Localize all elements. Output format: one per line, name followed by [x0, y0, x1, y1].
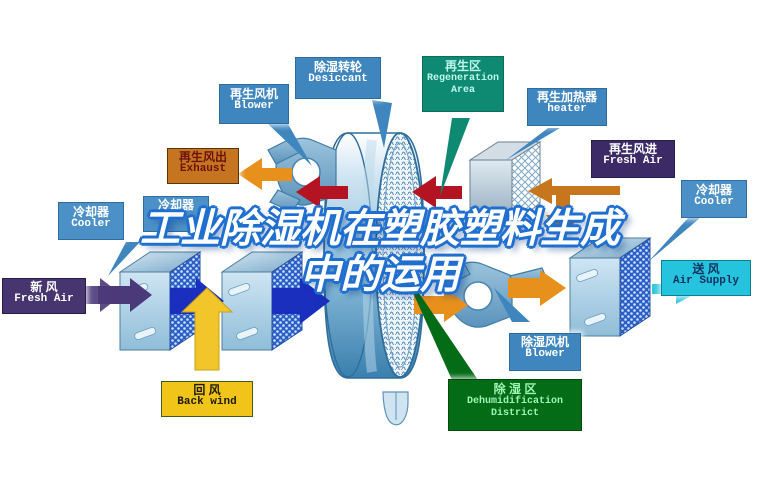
label-dehumidification-area: 除 湿 区 Dehumidification District	[448, 379, 582, 431]
label-dehumidification-blower-cn: 除湿风机	[510, 336, 580, 349]
label-desiccant-wheel-cn: 除湿转轮	[296, 61, 380, 74]
label-regeneration-blower-en: Blower	[220, 101, 288, 113]
label-fresh-air-en: Fresh Air	[3, 294, 85, 306]
label-back-wind: 回 风 Back wind	[161, 381, 253, 417]
label-dehumidification-area-en: Dehumidification District	[449, 396, 581, 420]
label-dehumidification-blower-en: Blower	[510, 349, 580, 361]
label-regeneration-heater: 再生加热器 heater	[527, 88, 607, 126]
label-fresh-air: 新 风 Fresh Air	[2, 278, 86, 314]
label-regeneration-exhaust-cn: 再生风出	[168, 151, 238, 164]
label-cooler-right-en: Cooler	[682, 197, 746, 209]
label-desiccant-wheel-en: Desiccant	[296, 74, 380, 86]
page-title: 工业除湿机在塑胶塑料生成 中的运用	[110, 206, 650, 298]
label-cooler-right-cn: 冷却器	[682, 184, 746, 197]
label-air-supply: 送 风 Air Supply	[661, 260, 751, 296]
diagram-canvas: 除湿转轮 Desiccant 再生风机 Blower 再生风出 Exhaust …	[0, 0, 757, 488]
label-regeneration-fresh-air-en: Fresh Air	[592, 156, 674, 168]
label-back-wind-en: Back wind	[162, 397, 252, 409]
label-dehumidification-area-cn: 除 湿 区	[449, 383, 581, 396]
page-title-line2: 中的运用	[110, 252, 650, 298]
label-regeneration-heater-en: heater	[528, 104, 606, 116]
label-regeneration-area-cn: 再生区	[423, 60, 503, 73]
label-regeneration-area: 再生区 Regeneration Area	[422, 56, 504, 112]
drain-piece	[383, 392, 408, 425]
label-regeneration-area-en: Regeneration Area	[423, 73, 503, 97]
label-regeneration-blower-cn: 再生风机	[220, 88, 288, 101]
label-regeneration-blower: 再生风机 Blower	[219, 84, 289, 124]
label-air-supply-cn: 送 风	[662, 263, 750, 276]
label-dehumidification-blower: 除湿风机 Blower	[509, 333, 581, 371]
label-fresh-air-cn: 新 风	[3, 281, 85, 294]
label-regeneration-exhaust-en: Exhaust	[168, 164, 238, 176]
label-cooler-right: 冷却器 Cooler	[681, 180, 747, 218]
label-back-wind-cn: 回 风	[162, 384, 252, 397]
label-air-supply-en: Air Supply	[662, 276, 750, 288]
label-regeneration-heater-cn: 再生加热器	[528, 91, 606, 104]
label-regeneration-fresh-air-cn: 再生风进	[592, 143, 674, 156]
page-title-line1: 工业除湿机在塑胶塑料生成	[140, 206, 620, 252]
label-regeneration-fresh-air: 再生风进 Fresh Air	[591, 140, 675, 178]
callout-leader-regen-area	[440, 118, 470, 196]
label-desiccant-wheel: 除湿转轮 Desiccant	[295, 57, 381, 99]
label-regeneration-exhaust: 再生风出 Exhaust	[167, 148, 239, 184]
